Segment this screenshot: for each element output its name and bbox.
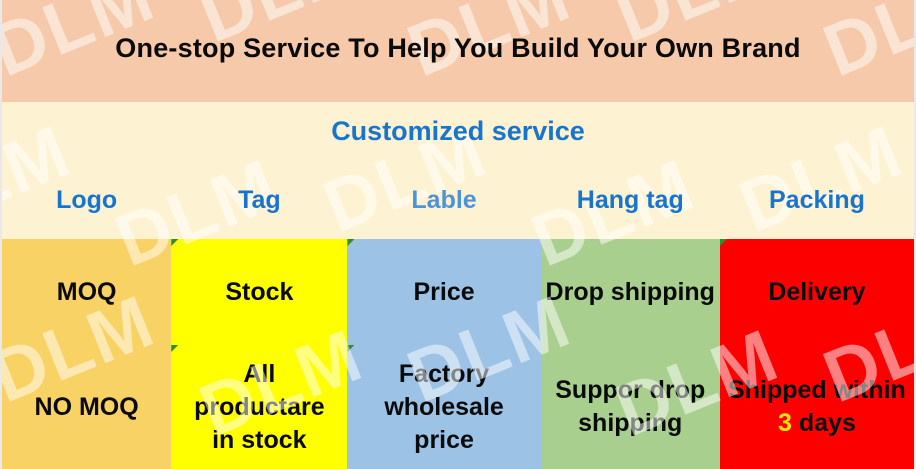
grid-detail-moq: NO MOQ xyxy=(2,345,171,469)
column-header-logo: Logo xyxy=(2,183,171,217)
grid-column-stock: Stock All productare in stock xyxy=(171,239,347,469)
column-header-tag: Tag xyxy=(171,183,347,217)
grid-heading-moq: MOQ xyxy=(2,239,171,345)
customized-service-title: Customized service xyxy=(2,116,914,147)
grid-heading-drop-shipping: Drop shipping xyxy=(541,239,720,345)
column-header-lable: Lable xyxy=(347,183,540,217)
grid-heading-stock: Stock xyxy=(171,239,347,345)
grid-detail-drop-shipping: Suppor drop shipping xyxy=(541,345,720,469)
column-header-packing: Packing xyxy=(720,183,914,217)
grid-detail-line: All xyxy=(243,360,275,388)
grid-detail-highlight: 3 xyxy=(778,409,792,437)
grid-detail-line: in stock xyxy=(212,426,306,454)
grid-column-price: Price Factory wholesale price xyxy=(347,239,540,469)
grid-column-moq: MOQ NO MOQ xyxy=(2,239,171,469)
grid-detail-stock: All productare in stock xyxy=(171,345,347,469)
grid-detail-delivery: Shipped within 3 days xyxy=(720,345,914,469)
grid-column-drop-shipping: Drop shipping Suppor drop shipping xyxy=(541,239,720,469)
grid-detail-line: shipping xyxy=(578,409,682,437)
grid-heading-price: Price xyxy=(347,239,540,345)
customized-column-headers: Logo Tag Lable Hang tag Packing xyxy=(2,183,914,217)
feature-grid: MOQ NO MOQ Stock All productare in stock… xyxy=(2,239,914,469)
grid-detail-line: price xyxy=(414,426,474,454)
grid-detail-line: Suppor drop xyxy=(555,376,705,404)
page-title: One-stop Service To Help You Build Your … xyxy=(2,33,914,64)
column-header-hang-tag: Hang tag xyxy=(541,183,720,217)
grid-detail-price: Factory wholesale price xyxy=(347,345,540,469)
grid-detail-line: productare xyxy=(194,393,325,421)
grid-detail-prefix: Shipped within xyxy=(728,376,906,404)
promo-poster: One-stop Service To Help You Build Your … xyxy=(0,0,916,469)
grid-detail-suffix: days xyxy=(792,409,856,437)
grid-column-delivery: Delivery Shipped within 3 days xyxy=(720,239,914,469)
grid-detail-line: wholesale xyxy=(384,393,504,421)
grid-heading-delivery: Delivery xyxy=(720,239,914,345)
grid-detail-line: Factory xyxy=(399,360,489,388)
